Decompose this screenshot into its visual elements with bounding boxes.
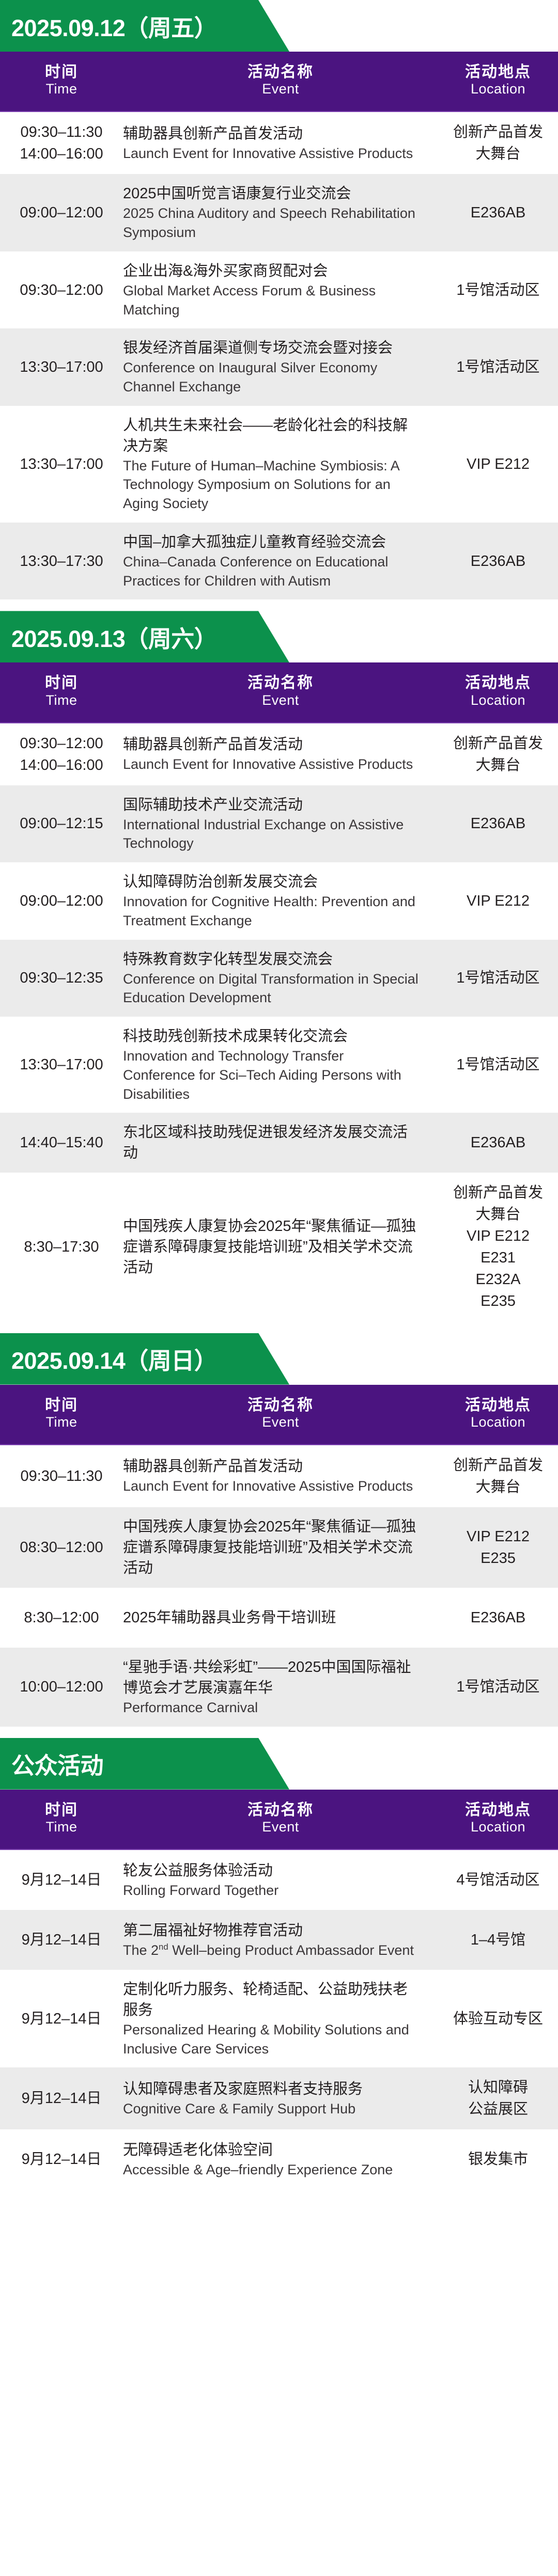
row-event-cn: 无障碍适老化体验空间 [123, 2140, 419, 2160]
row-event-en: The 2nd Well–being Product Ambassador Ev… [123, 1941, 419, 1960]
row-event-cn: 中国残疾人康复协会2025年“聚焦循证—孤独症谱系障碍康复技能培训班”及相关学术… [123, 1516, 419, 1578]
row-time: 09:30–12:35 [0, 967, 123, 989]
row-event-cn: 银发经济首届渠道侧专场交流会暨对接会 [123, 338, 419, 358]
table-row: 09:30–12:00企业出海&海外买家商贸配对会Global Market A… [0, 251, 558, 328]
row-location: VIP E212 [438, 890, 558, 912]
row-event: 中国残疾人康复协会2025年“聚焦循证—孤独症谱系障碍康复技能培训班”及相关学术… [123, 1216, 438, 1278]
row-event-en: Accessible & Age–friendly Experience Zon… [123, 2160, 419, 2179]
column-header-event-en: Event [123, 81, 438, 98]
column-header-time-cn: 时间 [0, 674, 123, 692]
row-event: 中国–加拿大孤独症儿童教育经验交流会China–Canada Conferenc… [123, 532, 438, 590]
row-event-en: Personalized Hearing & Mobility Solution… [123, 2020, 419, 2058]
row-event: 2025中国听觉言语康复行业交流会2025 China Auditory and… [123, 183, 438, 242]
row-time: 13:30–17:30 [0, 550, 123, 572]
column-header-row: 时间Time活动名称Event活动地点Location [0, 1790, 558, 1850]
row-location: E236AB [438, 1132, 558, 1153]
row-event-cn: 2025中国听觉言语康复行业交流会 [123, 183, 419, 204]
column-header-location-cn: 活动地点 [438, 1396, 558, 1414]
row-location: VIP E212 [438, 453, 558, 475]
row-event-en: Launch Event for Innovative Assistive Pr… [123, 755, 419, 774]
row-time: 09:00–12:00 [0, 202, 123, 224]
row-location: 创新产品首发 大舞台 VIP E212 E231 E232A E235 [438, 1182, 558, 1312]
row-location: 认知障碍 公益展区 [438, 2077, 558, 2120]
row-event-en: Performance Carnival [123, 1698, 419, 1717]
row-time: 8:30–17:30 [0, 1236, 123, 1258]
row-event: 中国残疾人康复协会2025年“聚焦循证—孤独症谱系障碍康复技能培训班”及相关学术… [123, 1516, 438, 1578]
table-row: 14:40–15:40东北区域科技助残促进银发经济发展交流活动E236AB [0, 1113, 558, 1173]
row-event: 辅助器具创新产品首发活动Launch Event for Innovative … [123, 1456, 438, 1496]
row-location: 1–4号馆 [438, 1929, 558, 1951]
table-row: 9月12–14日第二届福祉好物推荐官活动The 2nd Well–being P… [0, 1910, 558, 1970]
row-location: 1号馆活动区 [438, 967, 558, 989]
row-event-cn: 企业出海&海外买家商贸配对会 [123, 261, 419, 281]
row-event-en: Conference on Inaugural Silver Economy C… [123, 358, 419, 396]
date-banner-title: 2025.09.14（周日） [11, 1342, 217, 1376]
column-header-location-en: Location [438, 692, 558, 709]
row-location: 1号馆活动区 [438, 1054, 558, 1076]
row-event: 东北区域科技助残促进银发经济发展交流活动 [123, 1122, 438, 1163]
column-header-event-cn: 活动名称 [123, 1801, 438, 1819]
row-event-cn: 认知障碍患者及家庭照料者支持服务 [123, 2079, 419, 2099]
table-row: 9月12–14日认知障碍患者及家庭照料者支持服务Cognitive Care &… [0, 2067, 558, 2129]
schedule-block: 2025.09.13（周六）时间Time活动名称Event活动地点Locatio… [0, 611, 558, 1321]
row-event: 企业出海&海外买家商贸配对会Global Market Access Forum… [123, 261, 438, 319]
column-header-time-cn: 时间 [0, 1801, 123, 1819]
column-header-location-en: Location [438, 1414, 558, 1431]
column-header-event: 活动名称Event [123, 1396, 438, 1431]
row-event-en: The Future of Human–Machine Symbiosis: A… [123, 456, 419, 513]
date-banner-title: 2025.09.13（周六） [11, 620, 217, 654]
row-time: 13:30–17:00 [0, 356, 123, 378]
table-row: 9月12–14日定制化听力服务、轮椅适配、公益助残扶老服务Personalize… [0, 1970, 558, 2067]
date-banner-title: 2025.09.12（周五） [11, 9, 217, 43]
row-time: 9月12–14日 [0, 1929, 123, 1951]
column-header-row: 时间Time活动名称Event活动地点Location [0, 52, 558, 112]
row-location: 创新产品首发 大舞台 [438, 733, 558, 776]
row-time: 9月12–14日 [0, 2008, 123, 2030]
row-time: 9月12–14日 [0, 1869, 123, 1891]
table-row: 13:30–17:00银发经济首届渠道侧专场交流会暨对接会Conference … [0, 328, 558, 405]
row-time: 08:30–12:00 [0, 1537, 123, 1558]
row-event-cn: 人机共生未来社会——老龄化社会的科技解决方案 [123, 415, 419, 456]
column-header-location: 活动地点Location [438, 674, 558, 708]
column-header-event: 活动名称Event [123, 674, 438, 708]
row-time: 09:00–12:00 [0, 890, 123, 912]
row-event-cn: 第二届福祉好物推荐官活动 [123, 1920, 419, 1941]
column-header-event: 活动名称Event [123, 63, 438, 98]
row-location: 4号馆活动区 [438, 1869, 558, 1891]
table-row: 09:00–12:00认知障碍防治创新发展交流会Innovation for C… [0, 862, 558, 939]
table-row: 09:30–11:30辅助器具创新产品首发活动Launch Event for … [0, 1445, 558, 1507]
row-event-en: 2025 China Auditory and Speech Rehabilit… [123, 204, 419, 242]
row-time: 09:30–12:00 14:00–16:00 [0, 733, 123, 776]
row-location: 银发集市 [438, 2148, 558, 2170]
column-header-location-en: Location [438, 1819, 558, 1836]
row-time: 13:30–17:00 [0, 1054, 123, 1076]
row-event: 认知障碍防治创新发展交流会Innovation for Cognitive He… [123, 872, 438, 930]
row-location: 1号馆活动区 [438, 1676, 558, 1698]
row-location: 创新产品首发 大舞台 [438, 121, 558, 165]
column-header-time: 时间Time [0, 63, 123, 98]
schedule-block: 2025.09.14（周日）时间Time活动名称Event活动地点Locatio… [0, 1333, 558, 1727]
column-header-location: 活动地点Location [438, 63, 558, 98]
row-event-cn: 中国–加拿大孤独症儿童教育经验交流会 [123, 532, 419, 552]
table-row: 8:30–12:002025年辅助器具业务骨干培训班E236AB [0, 1588, 558, 1648]
schedule-page: 2025.09.12（周五）时间Time活动名称Event活动地点Locatio… [0, 0, 558, 2189]
date-banner: 2025.09.14（周日） [0, 1333, 289, 1385]
row-event-cn: 科技助残创新技术成果转化交流会 [123, 1026, 419, 1047]
table-row: 10:00–12:00“星驰手语·共绘彩虹”——2025中国国际福祉博览会才艺展… [0, 1648, 558, 1727]
row-location: 1号馆活动区 [438, 279, 558, 301]
schedule-block: 公众活动时间Time活动名称Event活动地点Location9月12–14日轮… [0, 1738, 558, 2190]
table-row: 09:30–12:00 14:00–16:00辅助器具创新产品首发活动Launc… [0, 723, 558, 785]
table-row: 09:00–12:15国际辅助技术产业交流活动International Ind… [0, 785, 558, 862]
row-event-en: Global Market Access Forum & Business Ma… [123, 281, 419, 319]
row-event-cn: 辅助器具创新产品首发活动 [123, 1456, 419, 1477]
column-header-event-cn: 活动名称 [123, 674, 438, 692]
column-header-event-en: Event [123, 1414, 438, 1431]
row-location: E236AB [438, 550, 558, 572]
row-event-cn: 国际辅助技术产业交流活动 [123, 795, 419, 815]
table-row: 13:30–17:00科技助残创新技术成果转化交流会Innovation and… [0, 1017, 558, 1113]
column-header-row: 时间Time活动名称Event活动地点Location [0, 1385, 558, 1445]
row-event: 轮友公益服务体验活动Rolling Forward Together [123, 1860, 438, 1900]
column-header-location: 活动地点Location [438, 1801, 558, 1836]
row-time: 09:30–11:30 [0, 1465, 123, 1487]
date-banner-title: 公众活动 [11, 1747, 103, 1780]
row-event-cn: 辅助器具创新产品首发活动 [123, 123, 419, 144]
column-header-location-cn: 活动地点 [438, 1801, 558, 1819]
row-event-en: Launch Event for Innovative Assistive Pr… [123, 144, 419, 163]
row-event-cn: 中国残疾人康复协会2025年“聚焦循证—孤独症谱系障碍康复技能培训班”及相关学术… [123, 1216, 419, 1278]
column-header-time: 时间Time [0, 1801, 123, 1836]
schedule-block: 2025.09.12（周五）时间Time活动名称Event活动地点Locatio… [0, 0, 558, 599]
date-banner: 2025.09.12（周五） [0, 0, 289, 52]
table-row: 8:30–17:30中国残疾人康复协会2025年“聚焦循证—孤独症谱系障碍康复技… [0, 1173, 558, 1321]
row-time: 13:30–17:00 [0, 453, 123, 475]
row-event: 人机共生未来社会——老龄化社会的科技解决方案The Future of Huma… [123, 415, 438, 513]
column-header-time-en: Time [0, 692, 123, 709]
row-time: 9月12–14日 [0, 2148, 123, 2170]
column-header-time-en: Time [0, 1819, 123, 1836]
row-location: VIP E212 E235 [438, 1526, 558, 1569]
table-row: 09:00–12:002025中国听觉言语康复行业交流会2025 China A… [0, 174, 558, 251]
row-event: 定制化听力服务、轮椅适配、公益助残扶老服务Personalized Hearin… [123, 1979, 438, 2058]
table-row: 09:30–11:30 14:00–16:00辅助器具创新产品首发活动Launc… [0, 112, 558, 174]
row-event: 辅助器具创新产品首发活动Launch Event for Innovative … [123, 123, 438, 163]
row-event-cn: 认知障碍防治创新发展交流会 [123, 872, 419, 892]
column-header-event: 活动名称Event [123, 1801, 438, 1836]
row-event: 辅助器具创新产品首发活动Launch Event for Innovative … [123, 734, 438, 774]
row-time: 9月12–14日 [0, 2088, 123, 2109]
column-header-location-en: Location [438, 81, 558, 98]
row-event-en: Innovation for Cognitive Health: Prevent… [123, 892, 419, 930]
row-event: 国际辅助技术产业交流活动International Industrial Exc… [123, 795, 438, 853]
column-header-event-cn: 活动名称 [123, 1396, 438, 1414]
row-event-en: Rolling Forward Together [123, 1881, 419, 1900]
row-time: 8:30–12:00 [0, 1607, 123, 1629]
row-event: 无障碍适老化体验空间Accessible & Age–friendly Expe… [123, 2140, 438, 2179]
column-header-time: 时间Time [0, 674, 123, 708]
column-header-event-en: Event [123, 1819, 438, 1836]
table-row: 13:30–17:00人机共生未来社会——老龄化社会的科技解决方案The Fut… [0, 406, 558, 523]
table-row: 9月12–14日轮友公益服务体验活动Rolling Forward Togeth… [0, 1850, 558, 1910]
row-event: 第二届福祉好物推荐官活动The 2nd Well–being Product A… [123, 1920, 438, 1960]
table-row: 09:30–12:35特殊教育数字化转型发展交流会Conference on D… [0, 940, 558, 1017]
row-event-cn: 定制化听力服务、轮椅适配、公益助残扶老服务 [123, 1979, 419, 2020]
row-location: E236AB [438, 1607, 558, 1629]
column-header-row: 时间Time活动名称Event活动地点Location [0, 662, 558, 723]
date-banner: 2025.09.13（周六） [0, 611, 289, 662]
row-event-en: Launch Event for Innovative Assistive Pr… [123, 1477, 419, 1496]
row-event-en: Conference on Digital Transformation in … [123, 970, 419, 1007]
row-event: 认知障碍患者及家庭照料者支持服务Cognitive Care & Family … [123, 2079, 438, 2119]
row-event: “星驰手语·共绘彩虹”——2025中国国际福祉博览会才艺展演嘉年华Perform… [123, 1657, 438, 1717]
row-time: 10:00–12:00 [0, 1676, 123, 1698]
row-event: 2025年辅助器具业务骨干培训班 [123, 1607, 438, 1628]
row-time: 09:30–11:30 14:00–16:00 [0, 121, 123, 165]
column-header-location: 活动地点Location [438, 1396, 558, 1431]
column-header-event-en: Event [123, 692, 438, 709]
column-header-location-cn: 活动地点 [438, 63, 558, 81]
column-header-event-cn: 活动名称 [123, 63, 438, 81]
row-time: 09:30–12:00 [0, 279, 123, 301]
row-event-cn: 辅助器具创新产品首发活动 [123, 734, 419, 755]
row-event: 银发经济首届渠道侧专场交流会暨对接会Conference on Inaugura… [123, 338, 438, 396]
row-location: 1号馆活动区 [438, 356, 558, 378]
table-row: 13:30–17:30中国–加拿大孤独症儿童教育经验交流会China–Canad… [0, 523, 558, 599]
row-event-cn: “星驰手语·共绘彩虹”——2025中国国际福祉博览会才艺展演嘉年华 [123, 1657, 419, 1698]
row-event-en: Cognitive Care & Family Support Hub [123, 2099, 419, 2119]
row-event: 特殊教育数字化转型发展交流会Conference on Digital Tran… [123, 949, 438, 1007]
row-event-cn: 2025年辅助器具业务骨干培训班 [123, 1607, 419, 1628]
row-time: 14:40–15:40 [0, 1132, 123, 1153]
row-event-cn: 特殊教育数字化转型发展交流会 [123, 949, 419, 970]
row-location: 创新产品首发 大舞台 [438, 1455, 558, 1498]
column-header-location-cn: 活动地点 [438, 674, 558, 692]
row-event-en: China–Canada Conference on Educational P… [123, 552, 419, 590]
date-banner: 公众活动 [0, 1738, 289, 1790]
row-event: 科技助残创新技术成果转化交流会Innovation and Technology… [123, 1026, 438, 1103]
column-header-time-en: Time [0, 81, 123, 98]
row-event-en: Innovation and Technology Transfer Confe… [123, 1047, 419, 1103]
column-header-time-cn: 时间 [0, 1396, 123, 1414]
row-location: E236AB [438, 202, 558, 224]
row-event-cn: 东北区域科技助残促进银发经济发展交流活动 [123, 1122, 419, 1163]
row-event-cn: 轮友公益服务体验活动 [123, 1860, 419, 1881]
row-location: 体验互动专区 [438, 2008, 558, 2030]
row-event-en: International Industrial Exchange on Ass… [123, 815, 419, 853]
column-header-time-en: Time [0, 1414, 123, 1431]
table-row: 08:30–12:00中国残疾人康复协会2025年“聚焦循证—孤独症谱系障碍康复… [0, 1507, 558, 1588]
row-time: 09:00–12:15 [0, 813, 123, 834]
row-location: E236AB [438, 813, 558, 834]
column-header-time: 时间Time [0, 1396, 123, 1431]
column-header-time-cn: 时间 [0, 63, 123, 81]
table-row: 9月12–14日无障碍适老化体验空间Accessible & Age–frien… [0, 2129, 558, 2189]
